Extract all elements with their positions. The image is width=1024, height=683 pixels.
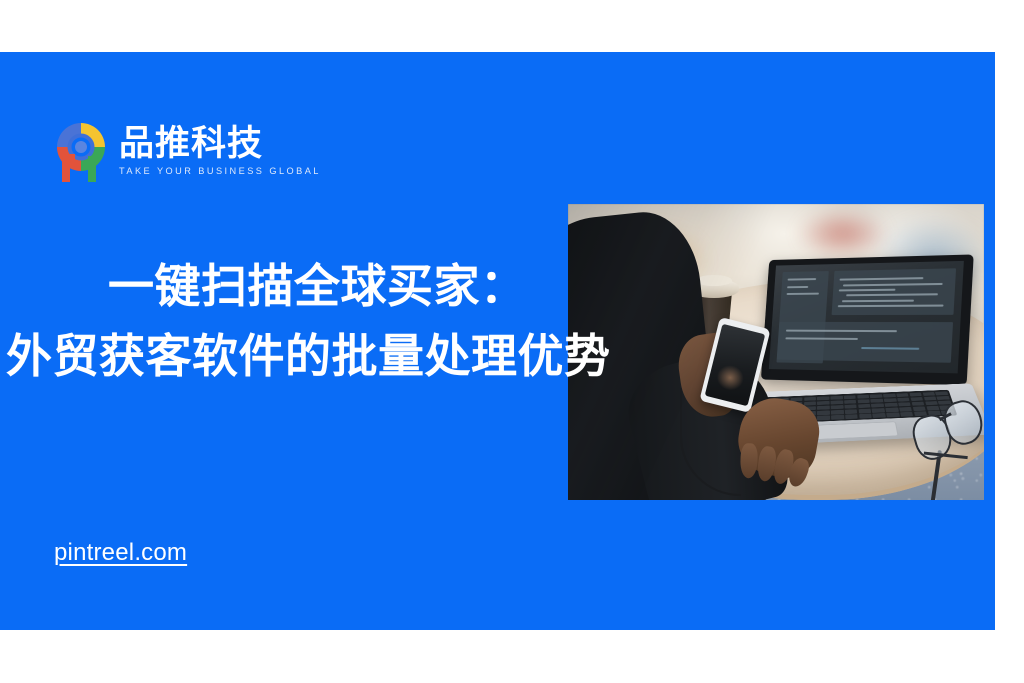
poster-canvas: 品推科技 TAKE YOUR BUSINESS GLOBAL xyxy=(0,0,1024,683)
brand-name: 品推科技 xyxy=(119,127,321,163)
laptop-lid xyxy=(761,255,973,386)
laptop-screen-code-editor xyxy=(769,261,964,373)
pintreel-logo-icon xyxy=(52,118,110,182)
brand-tagline: TAKE YOUR BUSINESS GLOBAL xyxy=(119,166,321,176)
background-red-bokeh xyxy=(797,210,889,257)
brand-lockup[interactable]: 品推科技 TAKE YOUR BUSINESS GLOBAL xyxy=(52,118,321,182)
blue-poster-panel: 品推科技 TAKE YOUR BUSINESS GLOBAL xyxy=(0,52,995,630)
smartphone-screen-glow xyxy=(714,363,747,394)
site-url[interactable]: pintreel.com xyxy=(54,539,187,567)
laptop-trackpad xyxy=(809,422,898,441)
hero-photo xyxy=(568,204,984,500)
brand-text-block: 品推科技 TAKE YOUR BUSINESS GLOBAL xyxy=(119,124,321,177)
photo-scene xyxy=(568,204,984,500)
